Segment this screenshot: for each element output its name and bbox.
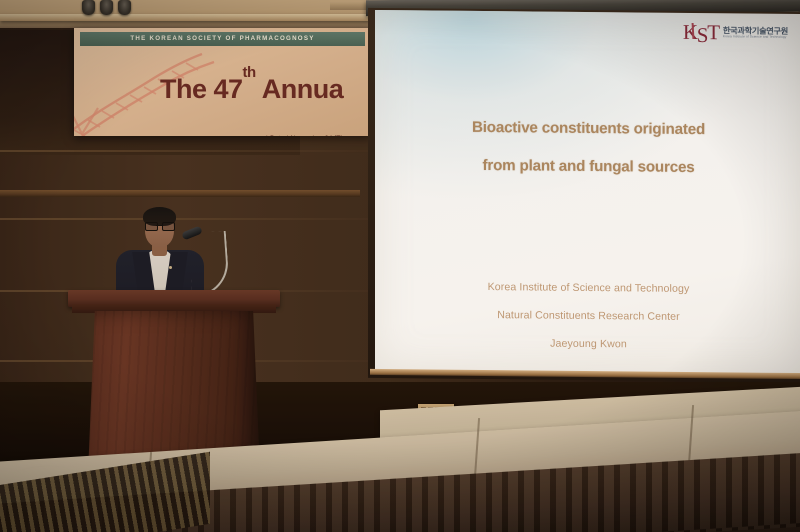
kist-logo: KST 한국과학기술연구원 Korea Institute of Science…	[683, 22, 788, 44]
speaker-lapel-pin	[169, 266, 172, 269]
banner-title-main: The 47	[160, 74, 243, 104]
track-light-icon	[100, 0, 113, 15]
eyeglasses-icon	[145, 222, 174, 229]
kist-english-name: Korea Institute of Science and Technolog…	[723, 35, 788, 39]
conference-photo-scene: THE KOREAN SOCIETY OF PHARMACOGNOSY	[0, 0, 800, 532]
banner-title-rest: Annua	[256, 74, 344, 104]
track-light-icon	[82, 0, 95, 15]
conference-banner: THE KOREAN SOCIETY OF PHARMACOGNOSY	[74, 28, 371, 136]
kist-wordmark-icon: KST	[683, 22, 719, 43]
banner-society-label: THE KOREAN SOCIETY OF PHARMACOGNOSY	[80, 32, 365, 46]
kist-logo-text: 한국과학기술연구원 Korea Institute of Science and…	[723, 27, 788, 40]
wall-trim	[0, 190, 360, 197]
track-light-icon	[118, 0, 131, 15]
banner-title-ordinal: th	[243, 64, 256, 81]
affiliation-presenter: Jaeyoung Kwon	[375, 328, 800, 360]
wall-panel-seam	[0, 150, 370, 152]
ceiling-rail	[0, 14, 370, 21]
slide-title-line-1: Bioactive constituents originated	[375, 108, 800, 150]
banner-title: The 47th Annua	[160, 74, 343, 105]
slide-title: Bioactive constituents originated from p…	[375, 108, 800, 188]
slide-affiliation: Korea Institute of Science and Technolog…	[375, 272, 800, 360]
banner-date: | Date | November 24 [Th	[266, 135, 345, 136]
affiliation-center: Natural Constituents Research Center	[375, 300, 800, 332]
projection-screen: KST 한국과학기술연구원 Korea Institute of Science…	[375, 10, 800, 376]
slide-title-line-2: from plant and fungal sources	[375, 146, 800, 188]
affiliation-institute: Korea Institute of Science and Technolog…	[375, 272, 800, 304]
